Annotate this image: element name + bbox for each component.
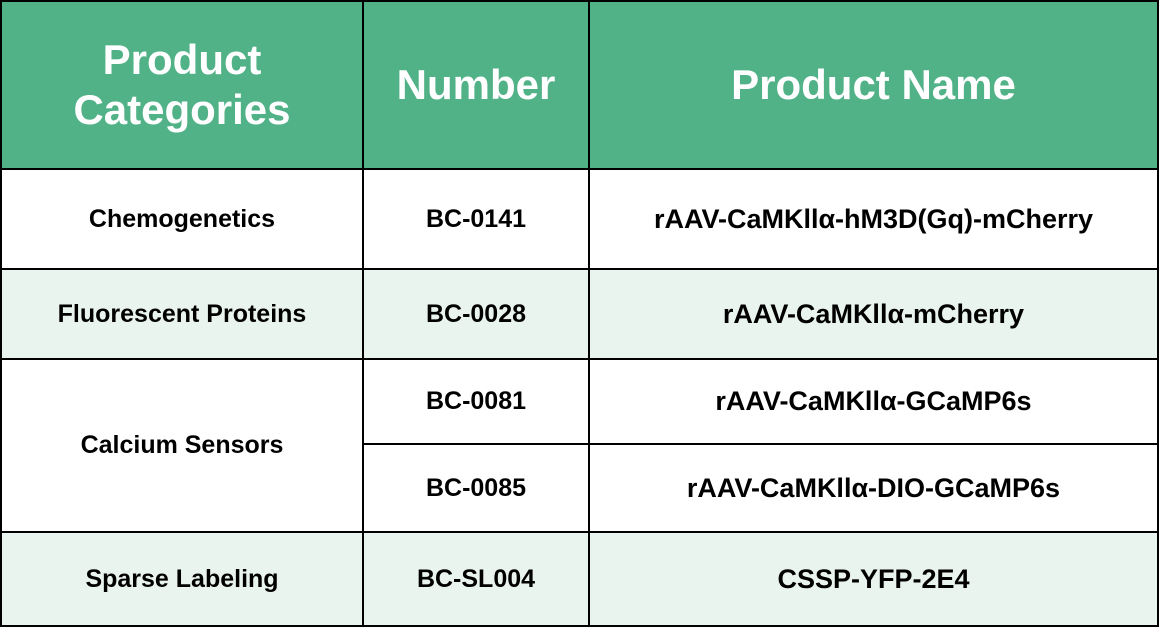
table-row: Fluorescent Proteins BC-0028 rAAV-CaMKll… <box>1 269 1158 359</box>
product-catalog-table: Product Categories Number Product Name C… <box>0 0 1159 627</box>
cell-product-name: rAAV-CaMKllα-DIO-GCaMP6s <box>589 444 1158 532</box>
cell-product-name: rAAV-CaMKllα-GCaMP6s <box>589 359 1158 444</box>
table-header: Product Categories Number Product Name <box>1 1 1158 169</box>
cell-category: Fluorescent Proteins <box>1 269 363 359</box>
cell-category: Sparse Labeling <box>1 532 363 626</box>
cell-product-name: rAAV-CaMKllα-mCherry <box>589 269 1158 359</box>
header-row: Product Categories Number Product Name <box>1 1 1158 169</box>
table-body: Chemogenetics BC-0141 rAAV-CaMKllα-hM3D(… <box>1 169 1158 626</box>
table-row: Chemogenetics BC-0141 rAAV-CaMKllα-hM3D(… <box>1 169 1158 269</box>
column-header-product-categories: Product Categories <box>1 1 363 169</box>
cell-number: BC-SL004 <box>363 532 589 626</box>
cell-number: BC-0081 <box>363 359 589 444</box>
cell-number: BC-0085 <box>363 444 589 532</box>
cell-product-name: rAAV-CaMKllα-hM3D(Gq)-mCherry <box>589 169 1158 269</box>
column-header-number: Number <box>363 1 589 169</box>
cell-category: Chemogenetics <box>1 169 363 269</box>
table-row: Calcium Sensors BC-0081 rAAV-CaMKllα-GCa… <box>1 359 1158 444</box>
column-header-product-name: Product Name <box>589 1 1158 169</box>
cell-product-name: CSSP-YFP-2E4 <box>589 532 1158 626</box>
cell-category-merged: Calcium Sensors <box>1 359 363 532</box>
table-row: Sparse Labeling BC-SL004 CSSP-YFP-2E4 <box>1 532 1158 626</box>
cell-number: BC-0028 <box>363 269 589 359</box>
cell-number: BC-0141 <box>363 169 589 269</box>
